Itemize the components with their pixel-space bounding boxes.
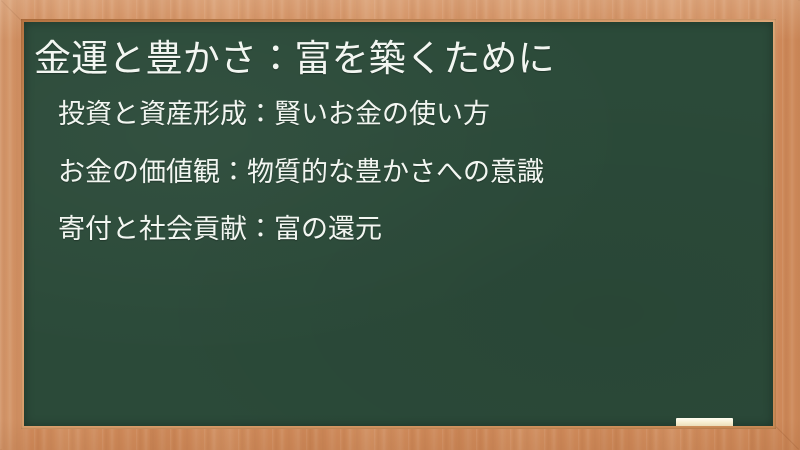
bullet-item-1: 投資と資産形成：賢いお金の使い方 <box>58 100 757 130</box>
bullet-item-3: 寄付と社会貢献：富の還元 <box>58 215 757 245</box>
bullet-list: 投資と資産形成：賢いお金の使い方 お金の価値観：物質的な豊かさへの意識 寄付と社… <box>58 100 757 245</box>
slide-title: 金運と豊かさ：富を築くために <box>34 36 761 82</box>
blackboard-slide: 金運と豊かさ：富を築くために 投資と資産形成：賢いお金の使い方 お金の価値観：物… <box>0 0 800 450</box>
chalk-stick-icon <box>676 418 733 426</box>
bullet-item-2: お金の価値観：物質的な豊かさへの意識 <box>58 158 757 188</box>
chalkboard-surface: 金運と豊かさ：富を築くために 投資と資産形成：賢いお金の使い方 お金の価値観：物… <box>24 22 773 426</box>
